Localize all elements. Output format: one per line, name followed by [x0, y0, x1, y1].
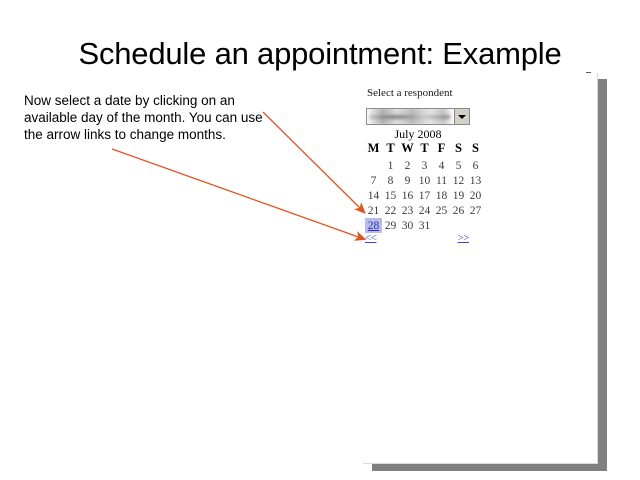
arrow-to-selected-day	[263, 112, 364, 212]
arrow-to-month-nav-links	[112, 149, 364, 239]
annotation-arrows	[0, 0, 640, 480]
slide-canvas: Schedule an appointment: Example Now sel…	[0, 0, 640, 480]
